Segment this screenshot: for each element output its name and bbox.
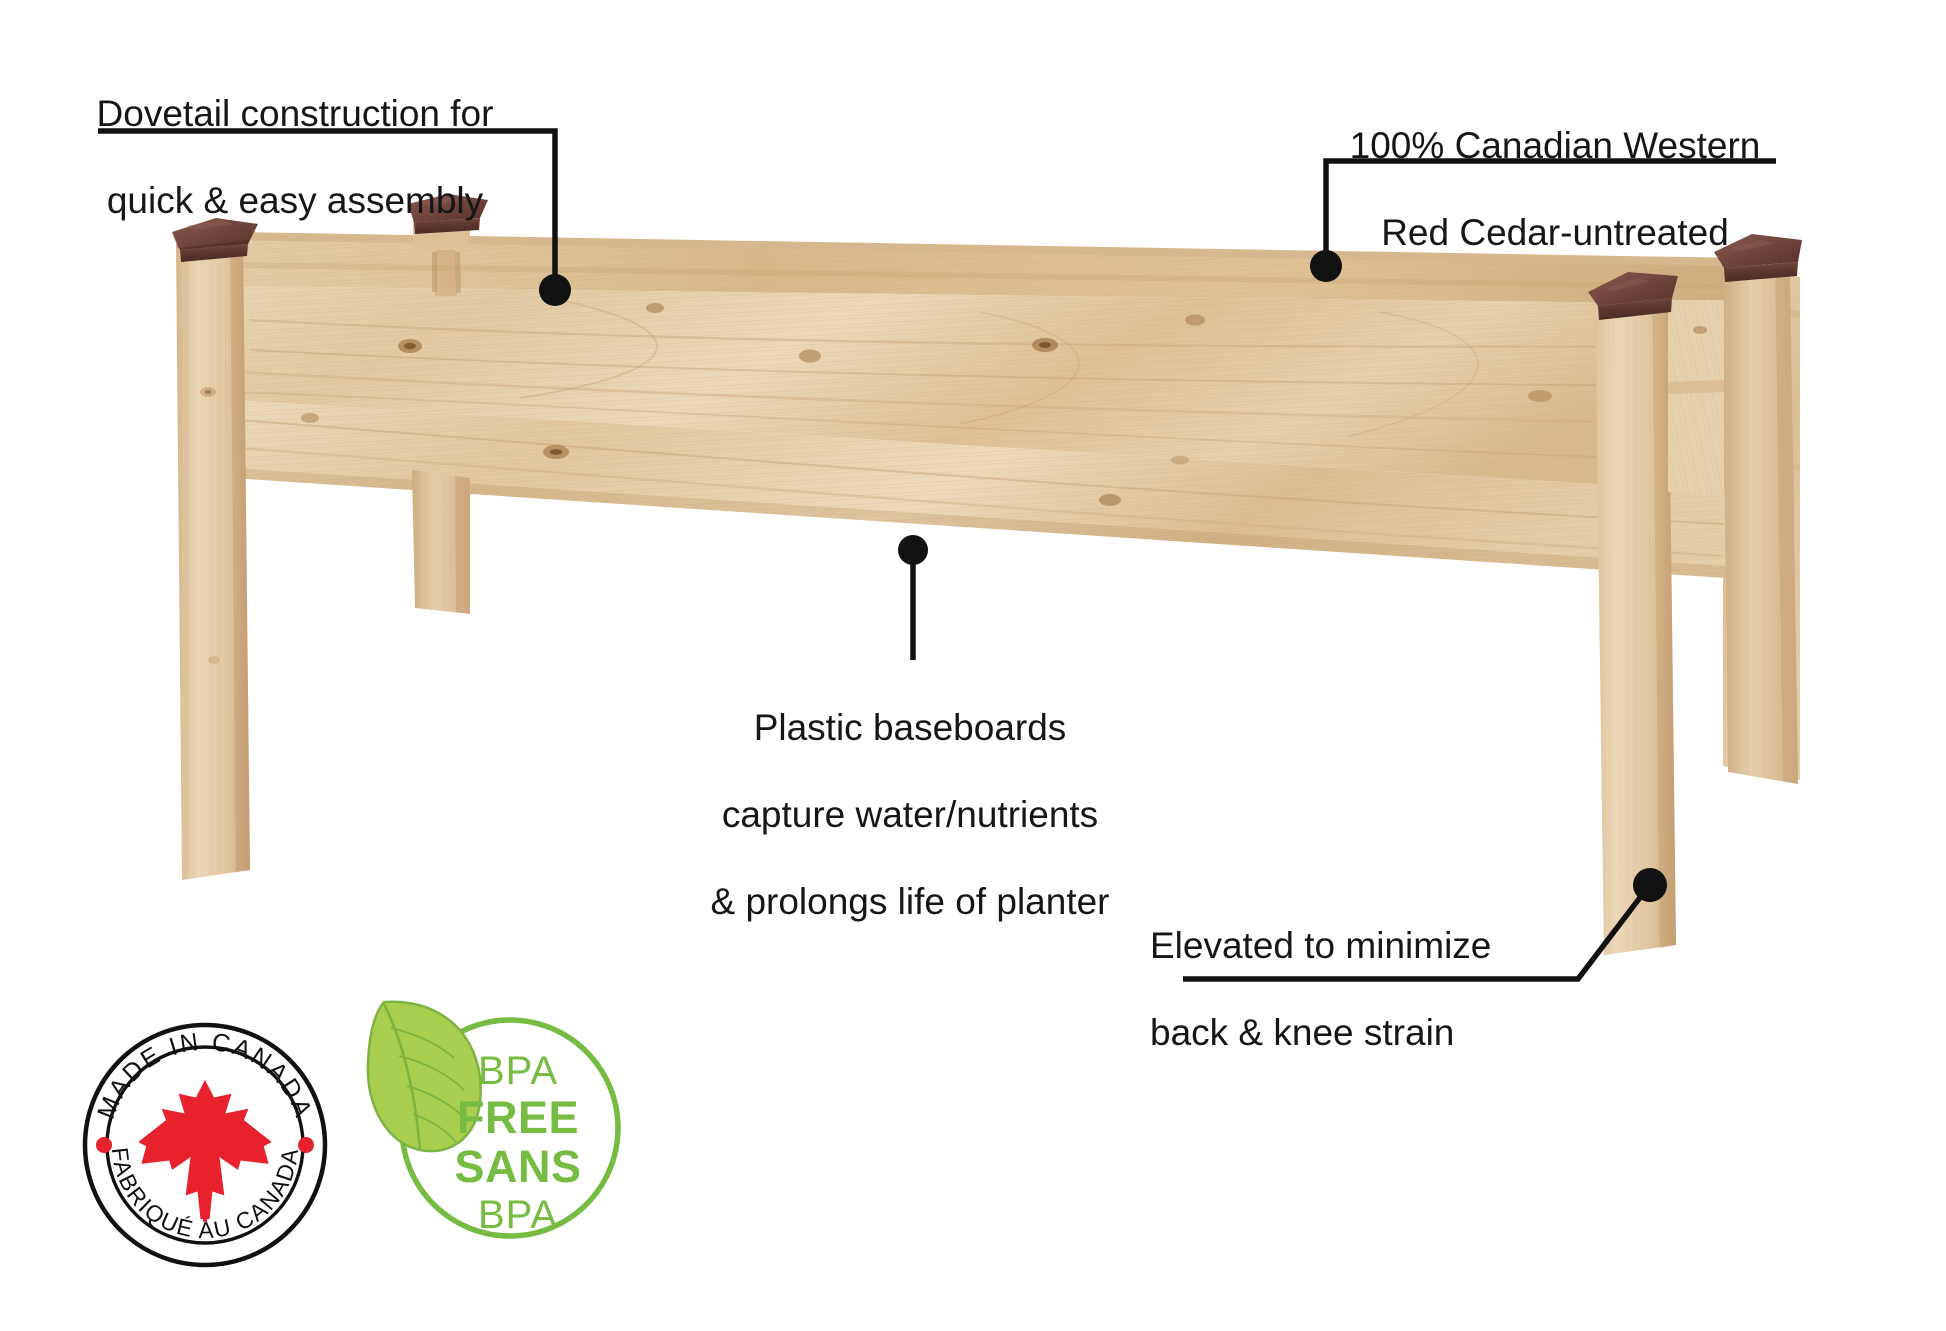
planter-end-panel-board — [1668, 300, 1724, 496]
callout-baseboards-line-2: capture water/nutrients — [630, 793, 1190, 837]
infographic-canvas: Dovetail construction for quick & easy a… — [0, 0, 1946, 1331]
planter-post-front-right — [1595, 288, 1676, 955]
seal-right-dot — [298, 1137, 314, 1153]
planter-post-front-left — [176, 238, 250, 880]
callout-dovetail-line-1: Dovetail construction for — [60, 92, 530, 136]
planter-leg-middle-left — [412, 470, 470, 614]
callout-baseboards-line-3: & prolongs life of planter — [630, 880, 1190, 924]
bpa-line-1: BPA — [478, 1049, 558, 1093]
seal-left-dot — [96, 1137, 112, 1153]
callout-elevated-minimize-strain: Elevated to minimize back & knee strain — [1150, 880, 1590, 1098]
callout-dovetail-line-2: quick & easy assembly — [60, 179, 530, 223]
bpa-line-4: BPA — [478, 1193, 558, 1237]
planter-leg-rear-right — [1722, 500, 1798, 784]
callout-cedar-line-2: Red Cedar-untreated — [1320, 211, 1790, 255]
bpa-line-2: FREE — [457, 1092, 579, 1143]
callout-elevated-line-2: back & knee strain — [1150, 1011, 1590, 1055]
callout-canadian-western-red-cedar: 100% Canadian Western Red Cedar-untreate… — [1320, 80, 1790, 298]
callout-dovetail-construction: Dovetail construction for quick & easy a… — [60, 48, 530, 266]
bpa-line-3: SANS — [454, 1141, 581, 1192]
callout-elevated-line-1: Elevated to minimize — [1150, 924, 1590, 968]
callout-cedar-line-1: 100% Canadian Western — [1320, 124, 1790, 168]
callout-plastic-baseboards: Plastic baseboards capture water/nutrien… — [630, 662, 1190, 968]
bpa-free-badge: BPA FREE SANS BPA — [358, 992, 636, 1250]
made-in-canada-seal: MADE IN CANADA FABRIQUÉ AU CANADA — [80, 1020, 330, 1270]
callout-baseboards-line-1: Plastic baseboards — [630, 706, 1190, 750]
